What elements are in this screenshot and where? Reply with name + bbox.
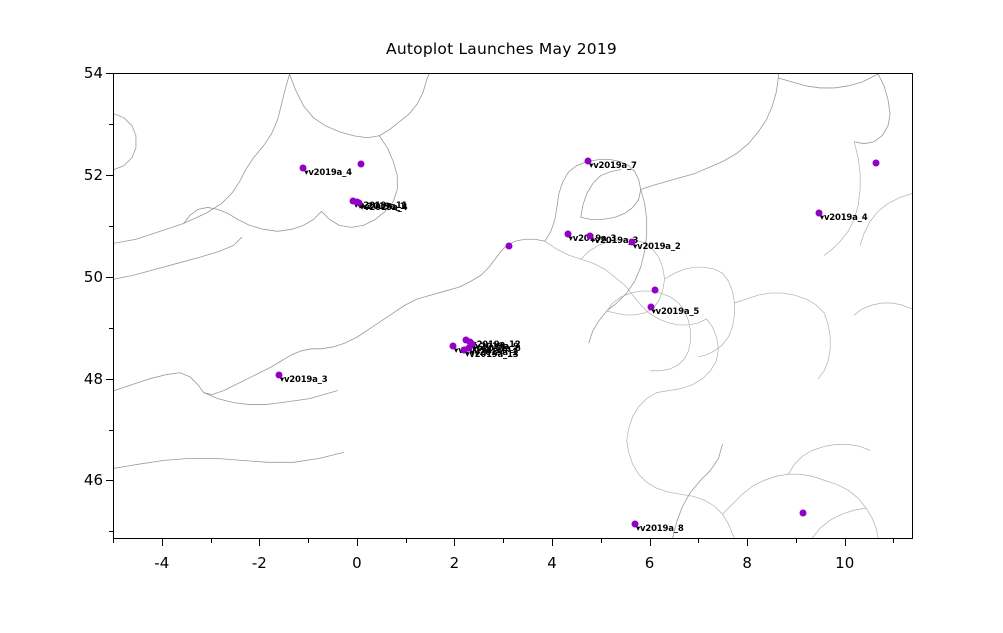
x-axis-tick-label: 2: [450, 554, 460, 572]
y-axis-tick: [106, 480, 113, 481]
x-axis-tick-label: 4: [547, 554, 557, 572]
x-axis-tick: [650, 539, 651, 546]
y-axis-tick: [106, 73, 113, 74]
x-axis-tick-label: -4: [154, 554, 169, 572]
basemap-coastlines: [114, 74, 912, 538]
x-axis-tick-label: 10: [835, 554, 854, 572]
y-axis-tick-label: 48: [61, 370, 103, 388]
y-axis-tick: [106, 175, 113, 176]
x-axis-tick-label: 6: [645, 554, 655, 572]
x-axis-tick-label: -2: [252, 554, 267, 572]
data-point-marker[interactable]: [652, 287, 659, 294]
x-axis-tick: [162, 539, 163, 546]
data-point-label: ▾v2019a_4: [304, 168, 352, 178]
x-axis-tick: [552, 539, 553, 546]
y-axis-tick-label: 52: [61, 166, 103, 184]
x-axis-tick-label: 8: [742, 554, 752, 572]
y-axis-tick: [109, 328, 113, 329]
x-axis-tick: [503, 539, 504, 543]
data-point-marker[interactable]: [357, 161, 364, 168]
x-axis-tick: [406, 539, 407, 543]
y-axis-tick: [109, 124, 113, 125]
data-point-label: ▾v2019a_2: [633, 242, 681, 252]
x-axis-tick: [698, 539, 699, 543]
x-axis-tick: [113, 539, 114, 543]
x-axis-tick: [357, 539, 358, 546]
data-point-label: ▾v2019a_4: [360, 203, 408, 213]
x-axis-tick: [454, 539, 455, 546]
x-axis-tick: [259, 539, 260, 546]
y-axis-tick: [109, 226, 113, 227]
y-axis-tick-label: 46: [61, 471, 103, 489]
y-axis-tick: [109, 430, 113, 431]
page-title: Autoplot Launches May 2019: [0, 40, 1003, 58]
y-axis-tick-label: 50: [61, 268, 103, 286]
x-axis-tick: [308, 539, 309, 543]
data-point-label: ▾v2019a_8: [636, 524, 684, 534]
y-axis-tick-label: 54: [61, 64, 103, 82]
data-point-label: ▾v2019a_7: [589, 161, 637, 171]
x-axis-tick: [211, 539, 212, 543]
data-point-label: ▾v2019a_4: [820, 213, 868, 223]
data-point-label: ▾v2019a_5: [652, 307, 700, 317]
data-point-marker[interactable]: [872, 160, 879, 167]
x-axis-tick: [796, 539, 797, 543]
figure-canvas: Autoplot Launches May 2019: [0, 0, 1003, 633]
y-axis-tick: [109, 531, 113, 532]
x-axis-tick: [893, 539, 894, 543]
x-axis-tick: [747, 539, 748, 546]
data-point-label: ▾v2019a_3: [280, 375, 328, 385]
x-axis-tick-label: 0: [352, 554, 362, 572]
data-point-marker[interactable]: [506, 243, 513, 250]
y-axis-tick: [106, 379, 113, 380]
x-axis-tick: [601, 539, 602, 543]
data-point-marker[interactable]: [799, 510, 806, 517]
data-point-label: ▾v2019a_13: [465, 350, 518, 360]
x-axis-tick: [845, 539, 846, 546]
y-axis-tick: [106, 277, 113, 278]
map-plot-area[interactable]: ▾v2019a_4▾v2019a_11▾v2019a_1▾v2019a_4▾v2…: [113, 73, 913, 539]
